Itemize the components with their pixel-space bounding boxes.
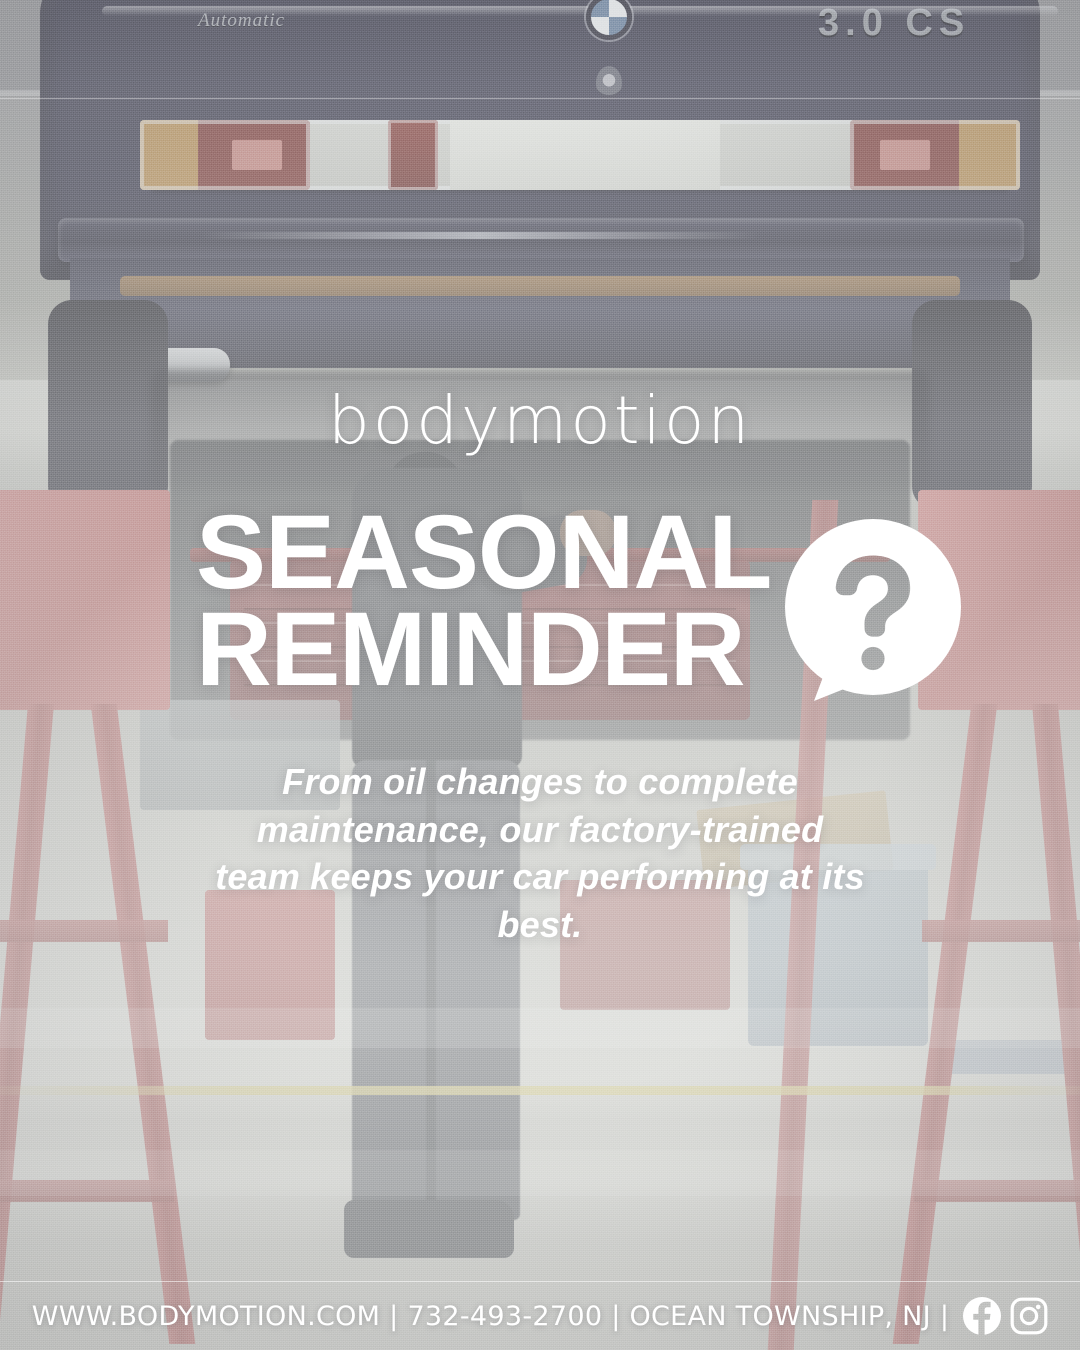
brand-logo: bodymotion — [0, 388, 1080, 454]
poster-canvas: Automatic 3.0 CS — [0, 0, 1080, 1350]
footer-divider — [0, 1281, 1080, 1282]
facebook-icon[interactable] — [963, 1297, 1001, 1335]
content-layer: bodymotion SEASONAL REMINDER — [0, 0, 1080, 1350]
instagram-icon[interactable] — [1010, 1297, 1048, 1335]
contact-info: WWW.BODYMOTION.COM | 732-493-2700 | OCEA… — [32, 1301, 949, 1332]
page-title: SEASONAL REMINDER — [196, 505, 816, 698]
body-copy: From oil changes to complete maintenance… — [215, 758, 865, 948]
social-links — [963, 1297, 1048, 1335]
question-speech-bubble-icon — [780, 519, 966, 705]
headline-line-2: REMINDER — [196, 602, 816, 699]
top-divider — [0, 98, 1080, 99]
footer-bar: WWW.BODYMOTION.COM | 732-493-2700 | OCEA… — [0, 1293, 1080, 1339]
